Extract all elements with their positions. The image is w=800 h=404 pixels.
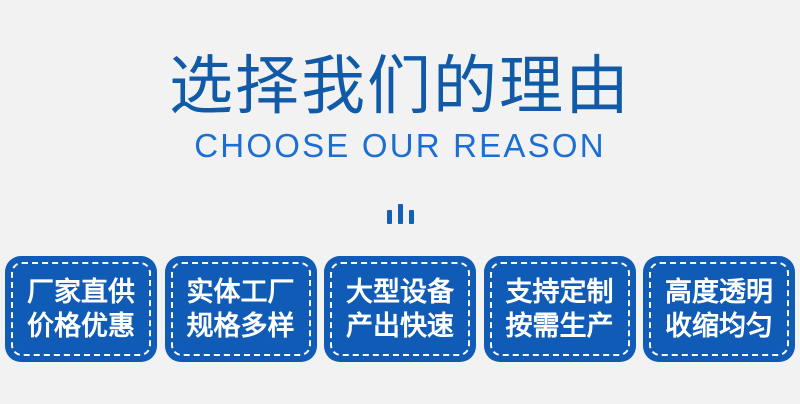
feature-box-2-line2: 规格多样 — [187, 309, 295, 343]
feature-box-4[interactable]: 支持定制 按需生产 — [484, 256, 636, 362]
three-bars-divider-icon — [0, 200, 800, 224]
feature-box-2[interactable]: 实体工厂 规格多样 — [165, 256, 317, 362]
feature-box-3-line2: 产出快速 — [346, 309, 454, 343]
feature-box-1[interactable]: 厂家直供 价格优惠 — [5, 256, 157, 362]
promo-banner: 选择我们的理由 CHOOSE OUR REASON 厂家直供 价格优惠 实体工厂… — [0, 0, 800, 404]
feature-box-3-line1: 大型设备 — [346, 275, 454, 309]
divider-bar-left — [387, 210, 392, 224]
page-title: 选择我们的理由 — [0, 50, 800, 122]
feature-box-1-line1: 厂家直供 — [27, 275, 135, 309]
page-subtitle: CHOOSE OUR REASON — [0, 126, 800, 166]
feature-box-5-line2: 收缩均匀 — [665, 309, 773, 343]
feature-box-4-line2: 按需生产 — [506, 309, 614, 343]
feature-box-5-line1: 高度透明 — [665, 275, 773, 309]
heading-block: 选择我们的理由 CHOOSE OUR REASON — [0, 50, 800, 166]
feature-box-5[interactable]: 高度透明 收缩均匀 — [643, 256, 795, 362]
feature-box-3[interactable]: 大型设备 产出快速 — [324, 256, 476, 362]
feature-box-4-line1: 支持定制 — [506, 275, 614, 309]
feature-box-2-line1: 实体工厂 — [187, 275, 295, 309]
divider-bar-right — [409, 210, 414, 224]
divider-bar-center — [398, 204, 403, 224]
feature-box-1-line2: 价格优惠 — [27, 309, 135, 343]
feature-box-list: 厂家直供 价格优惠 实体工厂 规格多样 大型设备 产出快速 支持定制 按需生产 … — [5, 256, 795, 362]
